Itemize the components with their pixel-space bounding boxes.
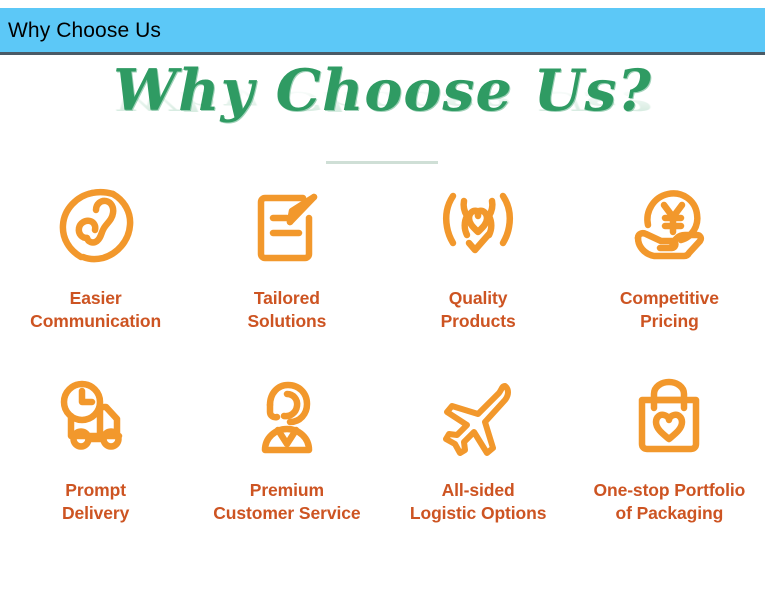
feature-card-all-sided-logistic-options[interactable]: All-sided Logistic Options <box>383 368 574 525</box>
delivery-truck-clock-icon <box>46 368 146 468</box>
window-title: Why Choose Us <box>0 20 161 41</box>
feature-row-1: Easier Communication Tailored Solutions <box>0 176 765 333</box>
feature-label: Easier Communication <box>30 287 161 333</box>
heart-waves-check-icon <box>428 176 528 276</box>
ear-in-circle-icon <box>46 176 146 276</box>
feature-card-competitive-pricing[interactable]: Competitive Pricing <box>574 176 765 333</box>
window-header-bar: Why Choose Us <box>0 8 765 55</box>
feature-card-one-stop-portfolio-of-packaging[interactable]: One-stop Portfolio of Packaging <box>574 368 765 525</box>
feature-label: Premium Customer Service <box>213 479 360 525</box>
feature-label: All-sided Logistic Options <box>410 479 546 525</box>
feature-card-prompt-delivery[interactable]: Prompt Delivery <box>0 368 191 525</box>
feature-card-tailored-solutions[interactable]: Tailored Solutions <box>191 176 382 333</box>
page-title: Why Choose Us? <box>113 62 652 119</box>
feature-label: Competitive Pricing <box>620 287 719 333</box>
feature-card-premium-customer-service[interactable]: Premium Customer Service <box>191 368 382 525</box>
feature-card-quality-products[interactable]: Quality Products <box>383 176 574 333</box>
feature-label: Quality Products <box>441 287 516 333</box>
page-content: Why Choose Us? Why Choose Us? Easier Com… <box>0 58 765 599</box>
feature-card-easier-communication[interactable]: Easier Communication <box>0 176 191 333</box>
feature-row-2: Prompt Delivery Premium Customer Service <box>0 368 765 525</box>
hand-holding-yen-coin-icon <box>619 176 719 276</box>
feature-label: Prompt Delivery <box>62 479 129 525</box>
feature-label: One-stop Portfolio of Packaging <box>593 479 745 525</box>
airplane-icon <box>428 368 528 468</box>
title-divider <box>326 161 438 164</box>
document-pencil-icon <box>237 176 337 276</box>
feature-grid: Easier Communication Tailored Solutions <box>0 176 765 525</box>
headset-agent-icon <box>237 368 337 468</box>
hero-section: Why Choose Us? Why Choose Us? <box>0 58 765 166</box>
feature-label: Tailored Solutions <box>247 287 326 333</box>
shopping-bag-heart-icon <box>619 368 719 468</box>
